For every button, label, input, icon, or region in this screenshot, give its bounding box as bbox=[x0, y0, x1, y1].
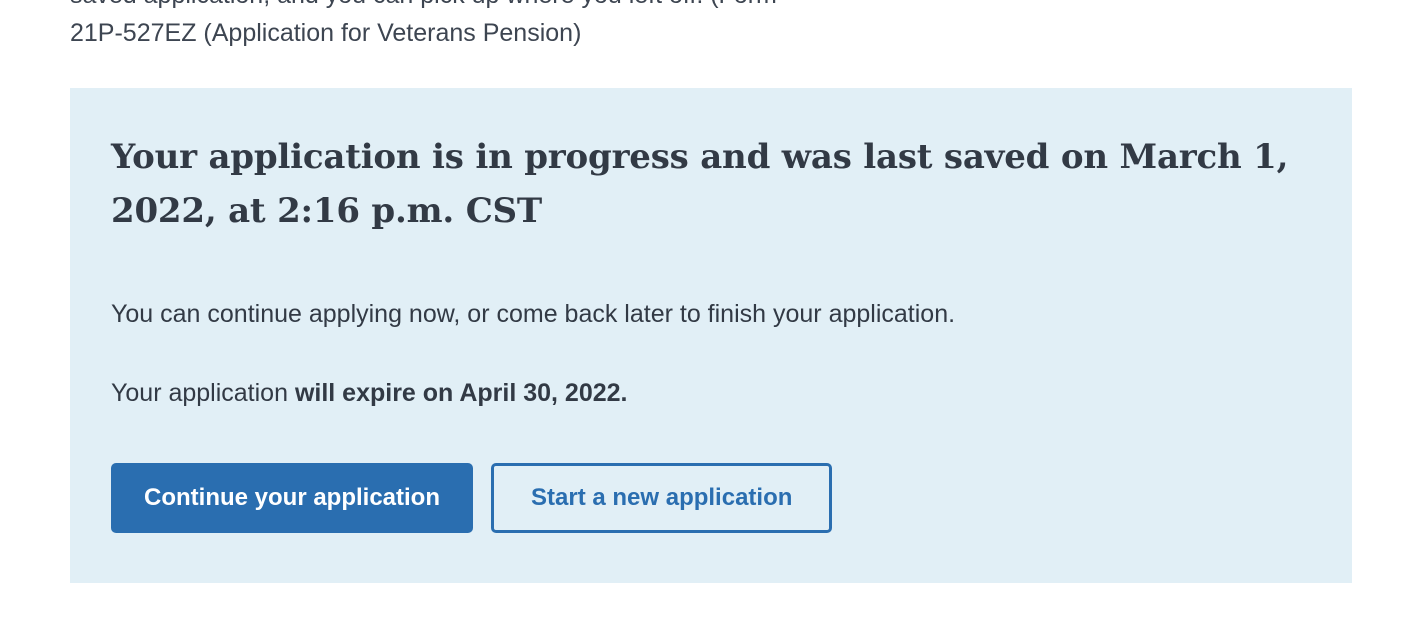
form-name-label: 21P-527EZ (Application for Veterans Pens… bbox=[70, 16, 581, 50]
alert-heading: Your application is in progress and was … bbox=[111, 130, 1311, 238]
expiration-prefix-text: Your application bbox=[111, 379, 295, 407]
start-new-application-button[interactable]: Start a new application bbox=[491, 463, 832, 533]
alert-paragraph-expiration: Your application will expire on April 30… bbox=[111, 376, 1312, 410]
alert-button-row: Continue your application Start a new ap… bbox=[111, 463, 1312, 533]
continue-application-button[interactable]: Continue your application bbox=[111, 463, 473, 533]
alert-paragraph-continue-info: You can continue applying now, or come b… bbox=[111, 297, 1312, 331]
saved-application-alert: Your application is in progress and was … bbox=[70, 88, 1352, 583]
expiration-strong-text: will expire on April 30, 2022. bbox=[295, 379, 628, 407]
clipped-text-above-viewport: saved application, and you can pick up w… bbox=[70, 0, 1355, 12]
